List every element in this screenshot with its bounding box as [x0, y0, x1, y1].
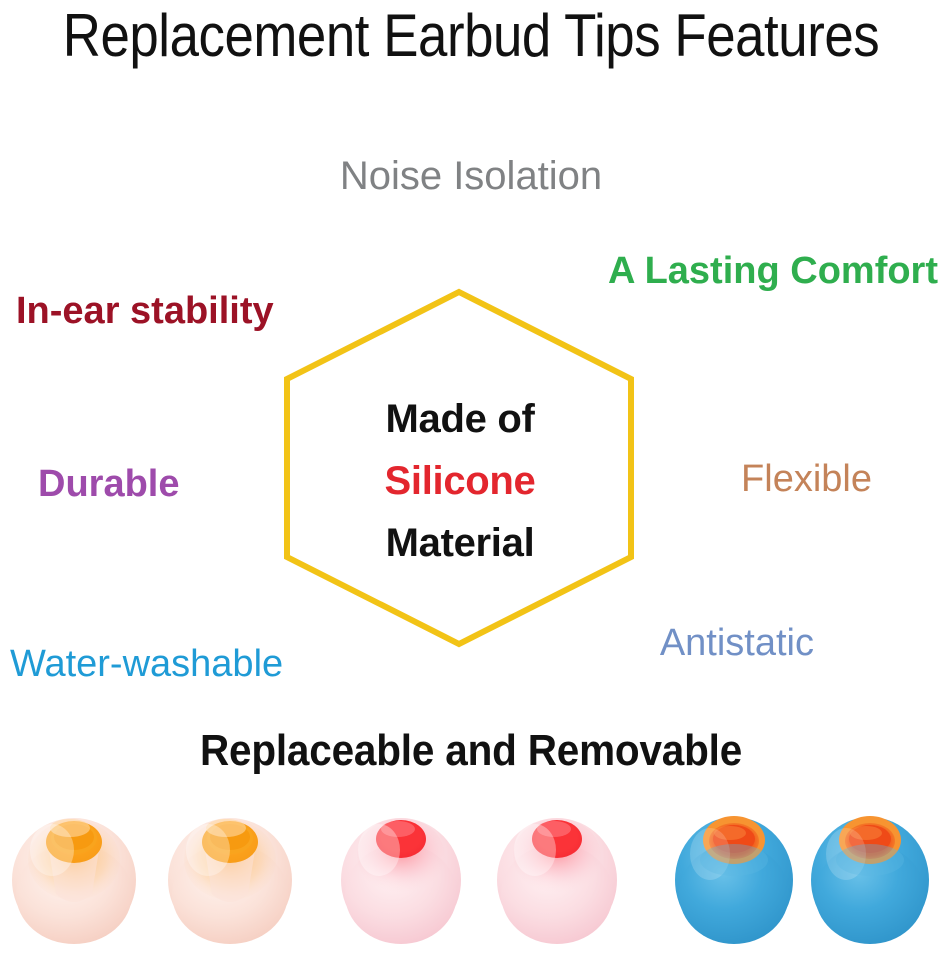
earbud-tip-cream-orange-right	[164, 798, 296, 948]
feature-label-noise-isolation: Noise Isolation	[0, 156, 942, 196]
tip-pair-blue-orange	[672, 792, 934, 953]
tip-pair-pink-red	[337, 792, 632, 953]
earbud-tip-pink-red-right	[493, 798, 621, 948]
earbud-tip-blue-orange-right	[808, 798, 932, 948]
feature-label-water-washable: Water-washable	[10, 645, 283, 683]
feature-label-lasting-comfort: A Lasting Comfort	[608, 252, 938, 290]
center-text-block: Made of Silicone Material	[300, 388, 620, 574]
feature-label-durable: Durable	[38, 465, 179, 503]
center-line-silicone: Silicone	[300, 450, 620, 512]
center-line-made-of: Made of	[300, 388, 620, 450]
infographic-canvas: Replacement Earbud Tips Features Made of…	[0, 0, 942, 953]
center-line-material: Material	[300, 512, 620, 574]
earbud-tip-blue-orange-left	[672, 798, 796, 948]
feature-label-in-ear-stability: In-ear stability	[16, 292, 274, 330]
page-title: Replacement Earbud Tips Features	[57, 0, 886, 72]
earbud-tip-pink-red-left	[337, 798, 465, 948]
product-image-row	[0, 792, 942, 953]
earbud-tip-cream-orange-left	[8, 798, 140, 948]
feature-label-antistatic: Antistatic	[660, 624, 814, 662]
bottom-caption: Replaceable and Removable	[38, 726, 905, 776]
feature-label-flexible: Flexible	[741, 460, 872, 498]
tip-pair-cream-orange	[8, 792, 303, 953]
